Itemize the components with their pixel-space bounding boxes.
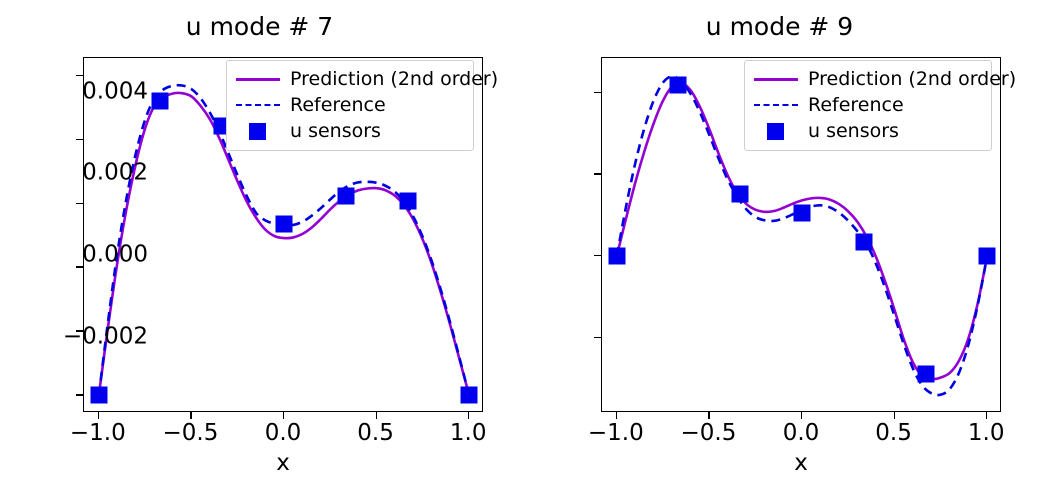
solid-line-icon [752,66,800,92]
legend-label-sensors: u sensors [290,120,381,142]
x-tick-label: 1.0 [968,420,1005,446]
x-tick-label: 0.5 [357,420,394,446]
panel-u-mode-7: u mode # 7 0.0000.0020.0040.0060.0080.01… [0,0,519,484]
sensor-marker [917,366,934,383]
sensor-marker [732,185,749,202]
x-tick-mark [376,412,377,419]
legend-label-reference: Reference [808,94,904,116]
panel-u-mode-9: u mode # 9 −0.0020.0000.0020.004 −1.0−0.… [520,0,1039,484]
legend-item-sensors: u sensors [234,118,466,144]
x-tick-mark [801,412,802,419]
x-tick-mark [283,412,284,419]
sensor-marker [461,387,478,404]
sensor-marker [608,247,625,264]
legend-item-sensors: u sensors [752,118,984,144]
legend-label-prediction: Prediction (2nd order) [808,68,1016,90]
sensor-marker [90,387,107,404]
sensor-marker [152,92,169,109]
x-tick-mark [894,412,895,419]
x-tick-mark [616,412,617,419]
x-tick-mark [986,412,987,419]
sensor-marker [794,205,811,222]
legend-label-reference: Reference [290,94,386,116]
solid-line-icon [234,66,282,92]
x-tick-label: 0.0 [783,420,820,446]
y-tick-label: 0.000 [82,243,148,266]
y-tick-label: 0.002 [82,162,148,185]
sensor-marker [670,77,687,94]
sensor-marker [276,216,293,233]
x-tick-label: −0.5 [680,420,736,446]
dashed-line-icon [234,92,282,118]
x-tick-mark [190,412,191,419]
x-axis-title: x [601,450,1001,476]
x-tick-label: −1.0 [70,420,126,446]
sensor-marker [855,234,872,251]
x-axis-title: x [83,450,483,476]
legend-item-prediction: Prediction (2nd order) [752,66,984,92]
x-tick-mark [468,412,469,419]
y-tick-label: −0.002 [63,325,148,348]
legend: Prediction (2nd order) Reference u senso… [744,60,992,151]
legend-label-prediction: Prediction (2nd order) [290,68,498,90]
x-tick-mark [708,412,709,419]
x-tick-label: 0.0 [265,420,302,446]
dashed-line-icon [752,92,800,118]
legend: Prediction (2nd order) Reference u senso… [226,60,474,151]
legend-label-sensors: u sensors [808,120,899,142]
x-tick-label: 1.0 [450,420,487,446]
sensor-marker [979,247,996,264]
x-tick-label: −0.5 [162,420,218,446]
legend-item-reference: Reference [752,92,984,118]
y-tick-label: 0.004 [82,80,148,103]
figure-canvas: u mode # 7 0.0000.0020.0040.0060.0080.01… [0,0,1039,484]
square-marker-icon [234,118,282,144]
sensor-marker [399,192,416,209]
legend-item-prediction: Prediction (2nd order) [234,66,466,92]
sensor-marker [337,187,354,204]
x-tick-label: 0.5 [875,420,912,446]
square-marker-icon [752,118,800,144]
legend-item-reference: Reference [234,92,466,118]
x-tick-label: −1.0 [588,420,644,446]
x-tick-mark [98,412,99,419]
